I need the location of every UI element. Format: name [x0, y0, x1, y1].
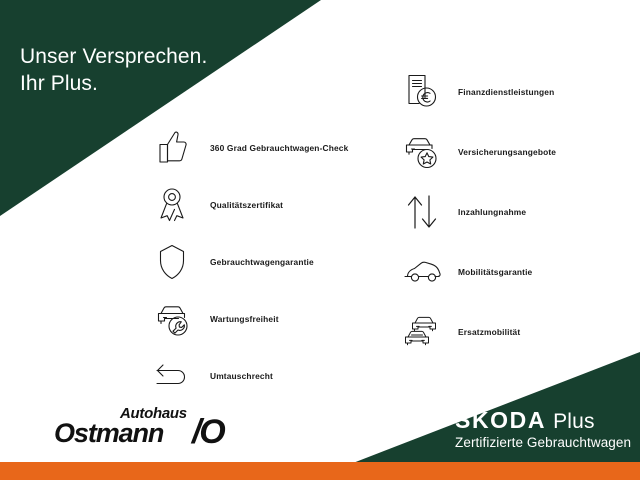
feature-label: Qualitätszertifikat: [210, 200, 283, 210]
shield-icon: [148, 238, 196, 286]
feature-item: Umtauschrecht: [148, 350, 348, 402]
up-down-arrows-icon: [398, 188, 446, 236]
feature-label: Gebrauchtwagengarantie: [210, 257, 314, 267]
orange-bottom-bar: [0, 462, 640, 480]
feature-label: Ersatzmobilität: [458, 327, 520, 337]
car-wrench-icon: [148, 295, 196, 343]
skoda-plus-logo: ŠKODA Plus Zertifizierte Gebrauchtwagen: [455, 408, 631, 451]
feature-label: Wartungsfreiheit: [210, 314, 279, 324]
feature-list-left: 360 Grad Gebrauchtwagen-Check Qualitätsz…: [148, 122, 348, 407]
skoda-logo-row: ŠKODA Plus: [455, 408, 631, 434]
quality-rosette-icon: [148, 181, 196, 229]
feature-item: Qualitätszertifikat: [148, 179, 348, 231]
feature-label: Umtauschrecht: [210, 371, 273, 381]
feature-label: 360 Grad Gebrauchtwagen-Check: [210, 143, 348, 153]
feature-item: Finanzdienstleistungen: [398, 66, 556, 118]
headline: Unser Versprechen. Ihr Plus.: [20, 16, 207, 124]
return-arrow-icon: [148, 352, 196, 400]
feature-item: Gebrauchtwagengarantie: [148, 236, 348, 288]
feature-item: Ersatzmobilität: [398, 306, 556, 358]
skoda-plus-label: Plus: [553, 410, 595, 434]
feature-item: 360 Grad Gebrauchtwagen-Check: [148, 122, 348, 174]
car-star-icon: [398, 128, 446, 176]
skoda-tagline: Zertifizierte Gebrauchtwagen: [455, 435, 631, 451]
feature-item: Wartungsfreiheit: [148, 293, 348, 345]
feature-label: Mobilitätsgarantie: [458, 267, 532, 277]
skoda-brand-wordmark: ŠKODA: [455, 408, 546, 432]
feature-label: Inzahlungnahme: [458, 207, 526, 217]
promo-banner: Unser Versprechen. Ihr Plus. 360 Grad Ge…: [0, 0, 640, 480]
dealer-logo-monogram: /O: [192, 413, 224, 452]
feature-list-right: Finanzdienstleistungen Versicherungsange…: [398, 66, 556, 366]
feature-label: Versicherungsangebote: [458, 147, 556, 157]
feature-item: Mobilitätsgarantie: [398, 246, 556, 298]
thumbs-up-icon: [148, 124, 196, 172]
two-cars-icon: [398, 308, 446, 356]
feature-item: Inzahlungnahme: [398, 186, 556, 238]
headline-line-2: Ihr Plus.: [20, 70, 207, 97]
feature-item: Versicherungsangebote: [398, 126, 556, 178]
dealer-logo-name: Ostmann: [54, 418, 163, 449]
dealer-logo: Autohaus Ostmann /O: [32, 405, 252, 457]
headline-line-1: Unser Versprechen.: [20, 45, 207, 68]
car-side-icon: [398, 248, 446, 296]
feature-label: Finanzdienstleistungen: [458, 87, 554, 97]
document-euro-icon: [398, 68, 446, 116]
